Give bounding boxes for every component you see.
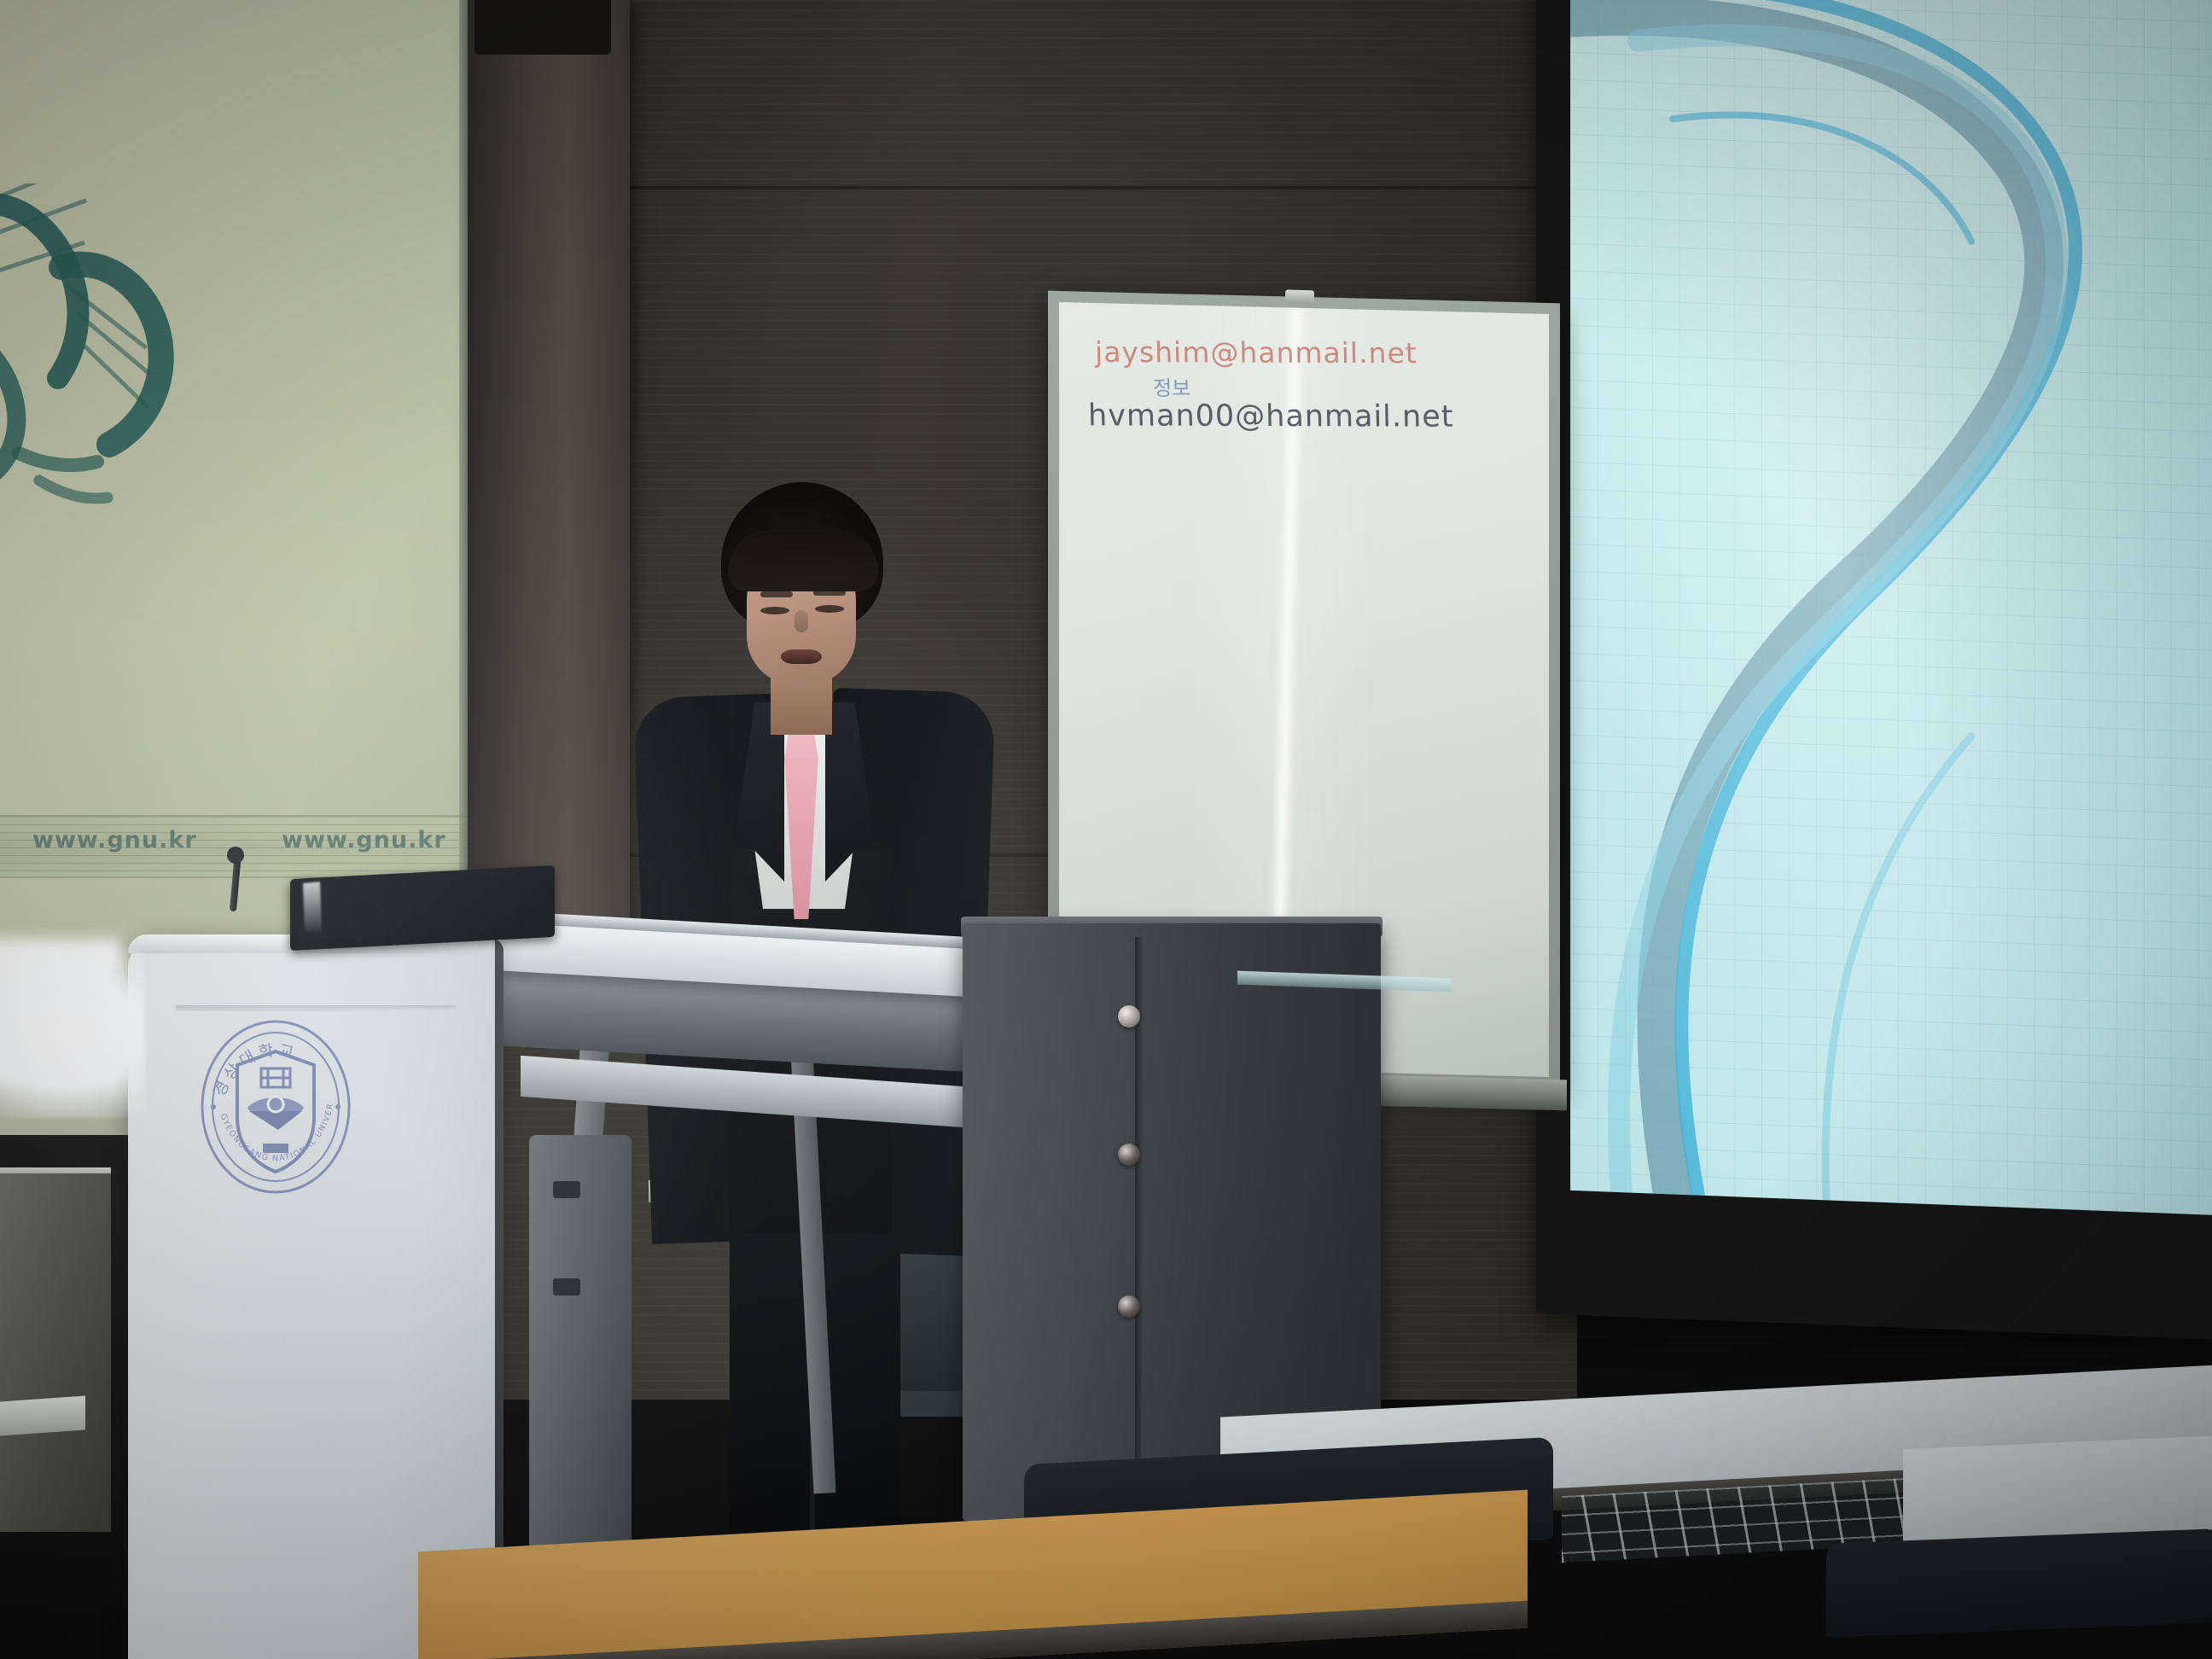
cabinet-knob-1[interactable] — [1118, 1005, 1140, 1027]
cabinet-knob-2[interactable] — [1118, 1144, 1140, 1166]
eye-right — [815, 605, 844, 613]
university-emblem-icon: 경상대학교 GYEONGSANG NATIONAL UNIVERSITY — [195, 1016, 357, 1199]
panel-port-2[interactable] — [553, 1278, 580, 1295]
whiteboard-korean-note: 정보 — [1153, 371, 1191, 401]
banner-url-1: www.gnu.kr — [32, 827, 197, 853]
left-cabinet — [0, 1173, 111, 1532]
right-desk-row-front — [1903, 1435, 2212, 1544]
screen-vignette — [1570, 0, 2212, 1216]
hair-fringe — [728, 530, 878, 591]
lecture-hall-photo: www.gnu.kr www.gnu.kr jayshim@hanmail.ne… — [0, 0, 2212, 1659]
mouth — [781, 649, 822, 664]
whiteboard-clip — [1285, 289, 1314, 304]
eyebrow-right — [813, 590, 846, 596]
nose — [795, 610, 808, 632]
panel-port-1[interactable] — [553, 1181, 580, 1198]
window-glow — [0, 947, 145, 1118]
whiteboard-email-2: hvman00@hanmail.net — [1088, 399, 1454, 434]
cabinet-knob-3[interactable] — [1118, 1295, 1140, 1318]
banner-url-2: www.gnu.kr — [282, 827, 446, 853]
brushstroke-mural-icon — [0, 183, 222, 542]
ceiling-speaker-icon — [474, 0, 611, 55]
whiteboard-email-1: jayshim@hanmail.net — [1095, 335, 1417, 370]
eyebrow-left — [760, 591, 793, 597]
wall-pillar — [468, 0, 630, 956]
podium-groove — [175, 1005, 457, 1011]
svg-text:경상대학교: 경상대학교 — [210, 1041, 299, 1100]
projection-screen — [1570, 0, 2212, 1216]
monitor-glare — [303, 882, 322, 933]
chair-back-right — [1826, 1528, 2212, 1638]
eye-left — [760, 607, 789, 614]
microphone-head-icon — [227, 847, 244, 864]
